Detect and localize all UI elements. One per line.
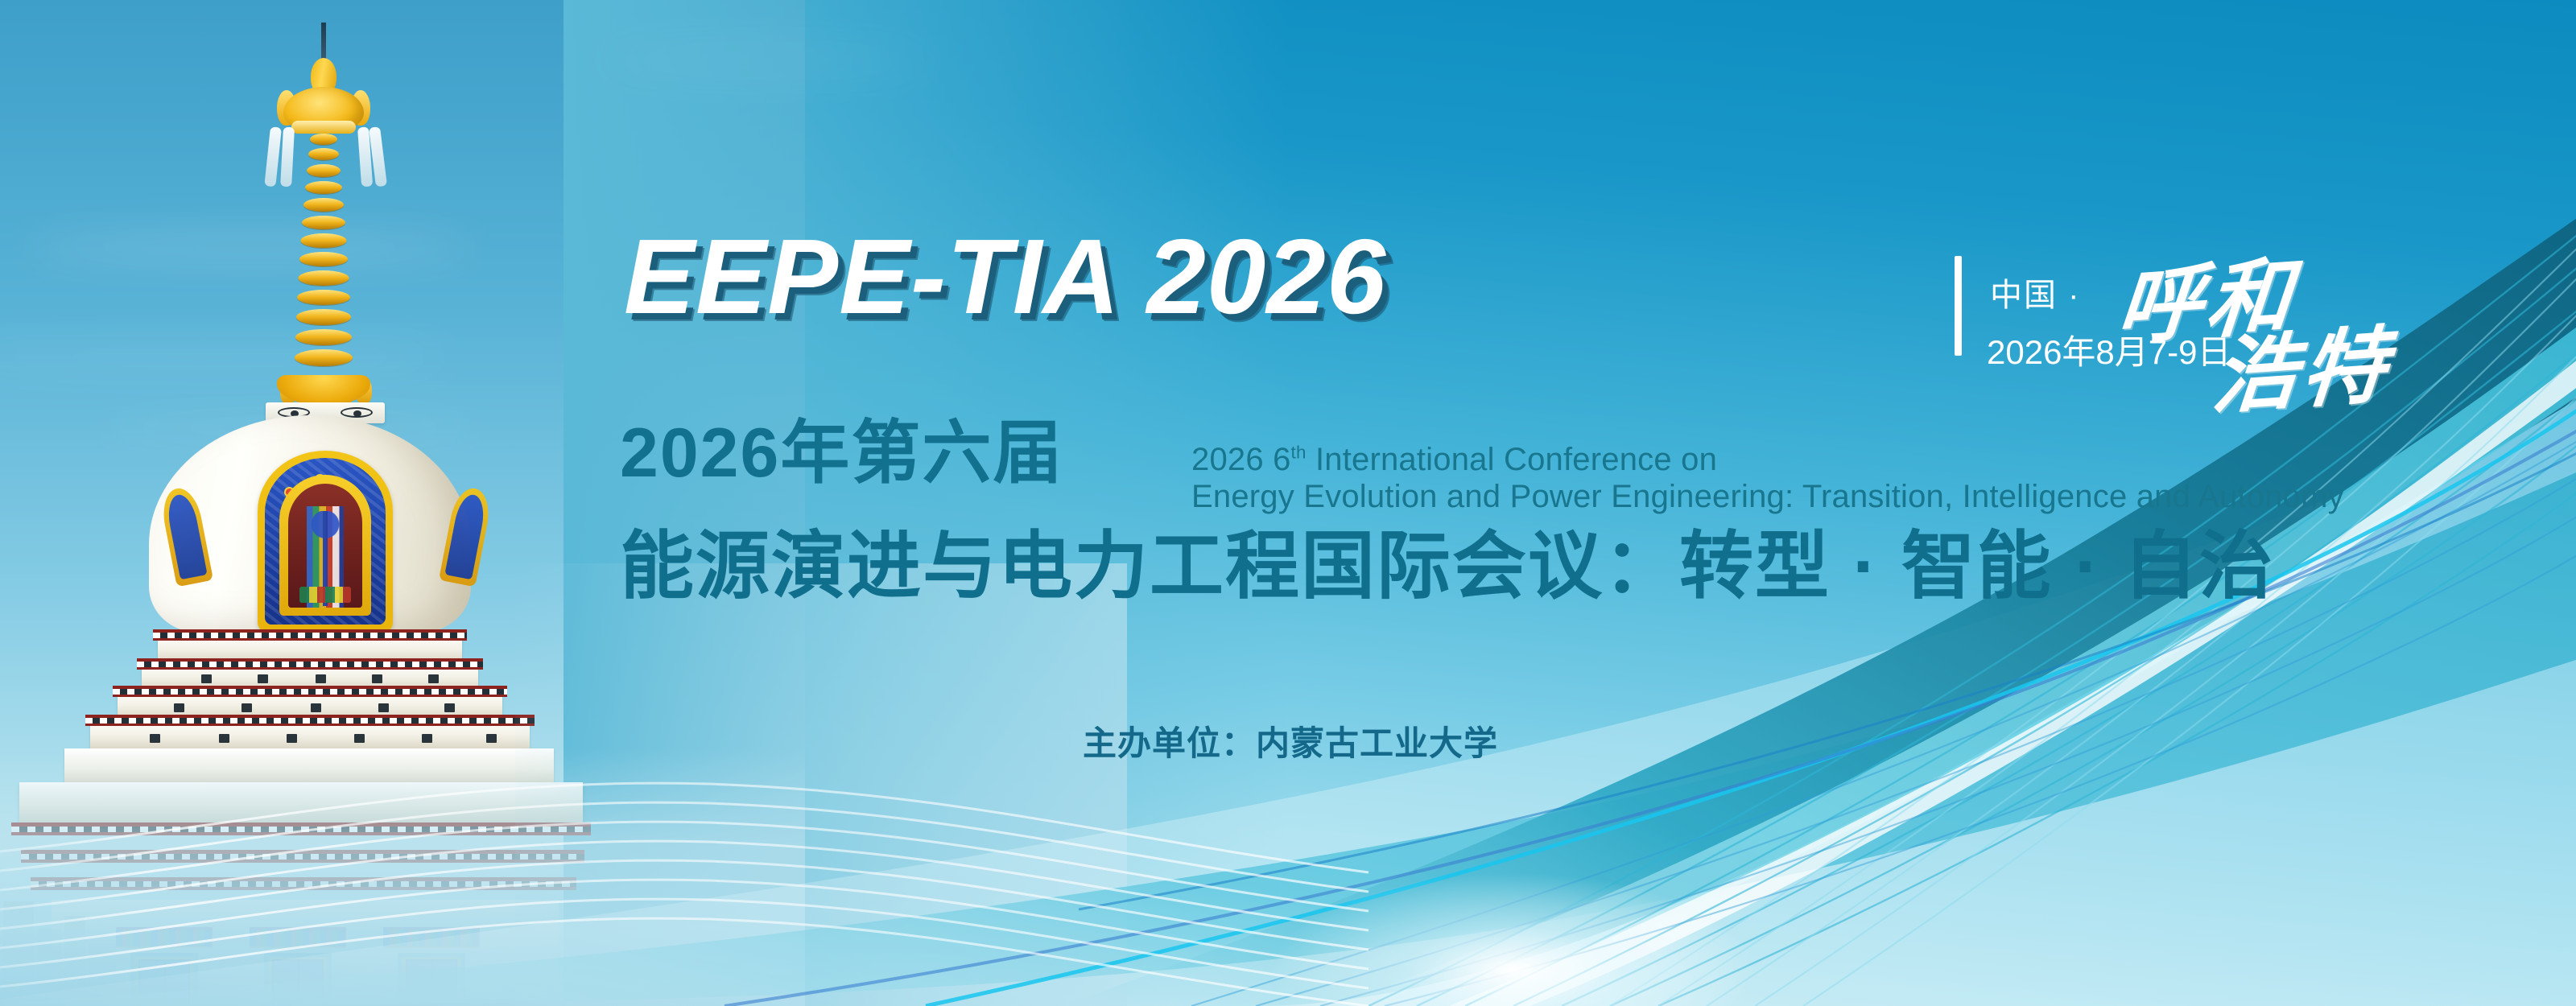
stupa-vent: [428, 674, 439, 683]
stupa-vent: [372, 674, 382, 683]
conference-title-cn: 能源演进与电力工程国际会议：转型 · 智能 · 自治: [620, 530, 2275, 604]
city-name-line2: 浩特: [2207, 297, 2396, 431]
stupa-vent: [242, 703, 252, 712]
stupa-niche: [258, 451, 393, 632]
page-title: EEPE-TIA 2026: [624, 224, 1386, 330]
stupa-vent: [219, 734, 229, 743]
stupa-niche-panel: [288, 484, 362, 608]
stupa-vent: [354, 734, 365, 743]
cloud-wisp: [596, 48, 934, 72]
stupa-vent: [378, 703, 389, 712]
stupa-cornice: [153, 629, 467, 641]
english-subtitle-block: 2026 6th International Conference on Ene…: [1191, 441, 2415, 516]
stupa-vent: [444, 703, 455, 712]
stupa-vent: [201, 674, 212, 683]
event-date: 2026年8月7-9日: [1987, 325, 2231, 374]
stupa-vent: [311, 703, 321, 712]
country-label: 中国 ·: [1990, 269, 2080, 315]
ordinal-suffix: th: [1291, 443, 1307, 463]
vertical-divider-bar: [1955, 256, 1962, 356]
edition-subtitle-cn: 2026年第六届: [620, 418, 1063, 488]
conference-banner: EEPE-TIA 2026 2026年第六届 2026 6th Internat…: [0, 0, 2576, 1006]
stupa-vent: [422, 734, 432, 743]
english-line1-suffix: International Conference on: [1307, 442, 1717, 477]
stupa-cornice: [137, 658, 483, 670]
english-subtitle-line2: Energy Evolution and Power Engineering: …: [1191, 478, 2415, 515]
stupa-streamer: [264, 126, 282, 187]
stupa-cornice: [85, 715, 535, 726]
stupa-vent: [258, 674, 268, 683]
stupa-spire: [295, 134, 353, 383]
stupa-ring-band: [291, 121, 356, 134]
niche-base-trim: [299, 587, 351, 603]
stupa-streamer: [280, 127, 295, 188]
stupa-vent: [316, 674, 326, 683]
location-date-badge: 中国 · 呼和 浩特 2026年8月7-9日: [1948, 241, 2463, 386]
host-organization: 主办单位：内蒙古工业大学: [1083, 716, 1498, 765]
photo-fade-haze-right: [515, 563, 1127, 1006]
stupa-cornice: [113, 686, 507, 697]
english-line1-prefix: 2026 6: [1191, 442, 1291, 477]
stupa-vent: [287, 734, 297, 743]
stupa-vent: [174, 703, 184, 712]
stupa-vent: [150, 734, 160, 743]
stupa-vent: [486, 734, 497, 743]
english-subtitle-line1: 2026 6th International Conference on: [1191, 441, 2415, 478]
